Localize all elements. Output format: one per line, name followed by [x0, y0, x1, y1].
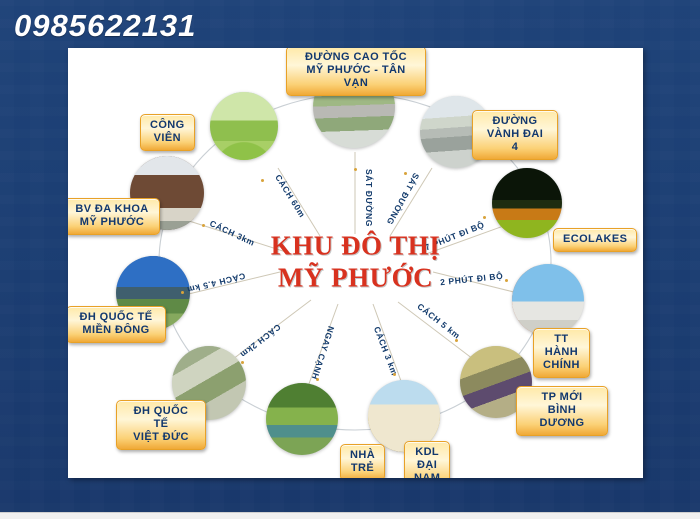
photo-admin-center: [512, 264, 584, 336]
spoke-dot: [202, 224, 205, 227]
phone-number: 0985622131: [14, 8, 196, 44]
spoke-dot: [455, 339, 458, 342]
tag-duong-cao-toc[interactable]: ĐƯỜNG CAO TỐC MỸ PHƯỚC - TÂN VẠN: [286, 48, 426, 96]
spoke-dot: [181, 291, 184, 294]
tag-tt-hanh-chinh[interactable]: TT HÀNH CHÍNH: [533, 328, 590, 378]
tag-nha-tre[interactable]: NHÀ TRẺ: [340, 444, 385, 478]
tag-dh-quoc-te-viet-duc[interactable]: ĐH QUỐC TẾ VIỆT ĐỨC: [116, 400, 206, 450]
tag-tp-moi-binh-duong[interactable]: TP MỚI BÌNH DƯƠNG: [516, 386, 608, 436]
spoke-dot: [354, 168, 357, 171]
spoke-dot: [261, 179, 264, 182]
tag-kdl-dai-nam[interactable]: KDL ĐẠI NAM: [404, 441, 450, 478]
center-title-line2: MỸ PHƯỚC: [206, 263, 506, 293]
tag-cong-vien[interactable]: CÔNG VIÊN: [140, 114, 195, 151]
spoke-dot: [316, 378, 319, 381]
tag-duong-vanh-dai-4[interactable]: ĐƯỜNG VÀNH ĐAI 4: [472, 110, 558, 160]
diagram-card: CÔNG VIÊN CÁCH 60m ĐƯỜNG CAO TỐC MỸ PHƯỚ…: [68, 48, 643, 478]
photo-park: [210, 92, 278, 160]
photo-ecolakes: [492, 168, 562, 238]
tag-bv-da-khoa-my-phuoc[interactable]: BV ĐA KHOA MỸ PHƯỚC: [68, 198, 160, 235]
spoke-dot: [483, 216, 486, 219]
bottom-strip: [0, 512, 700, 519]
spoke-dot: [404, 172, 407, 175]
center-title: KHU ĐÔ THỊ MỸ PHƯỚC: [206, 231, 506, 292]
photo-kindergarten: [266, 383, 338, 455]
spoke-dot: [241, 361, 244, 364]
tag-ecolakes[interactable]: ECOLAKES: [553, 228, 637, 252]
center-title-line1: KHU ĐÔ THỊ: [206, 231, 506, 261]
tag-dh-quoc-te-mien-dong[interactable]: ĐH QUỐC TẾ MIỀN ĐÔNG: [68, 306, 166, 343]
spoke-dot: [393, 373, 396, 376]
spoke-duong-cao-toc: SÁT ĐƯỜNG: [364, 169, 374, 227]
